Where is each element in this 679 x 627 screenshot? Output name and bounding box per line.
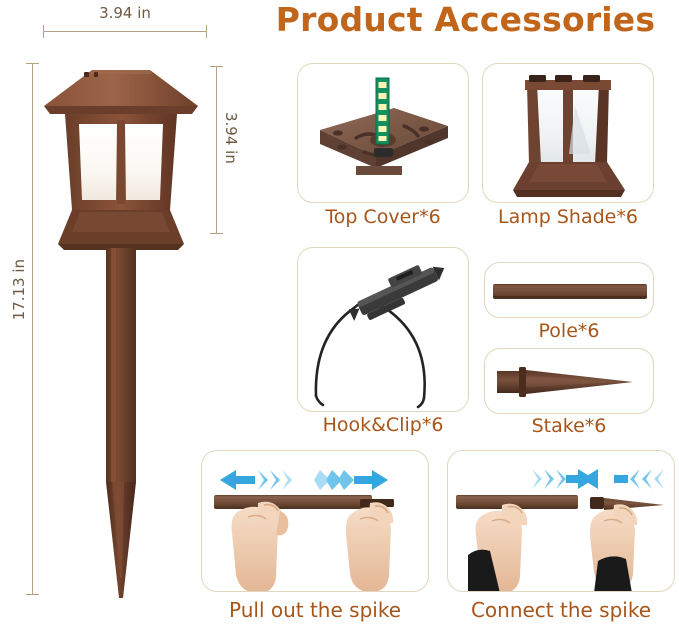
lamp-shade-image [483, 64, 653, 202]
step-label-connect-the-spike: Connect the spike [447, 598, 675, 622]
arrow-left-inward [582, 469, 628, 489]
dimension-width-cap-right [206, 25, 207, 38]
dimension-width: 3.94 in [40, 4, 210, 40]
accessory-label-lamp-shade: Lamp Shade*6 [482, 206, 654, 228]
dimension-width-cap-left [43, 25, 44, 38]
accessory-card-pole[interactable] [484, 262, 654, 318]
step-card-pull-out-the-spike[interactable] [201, 450, 429, 592]
infographic-canvas: Product Accessories 3.94 in 3.94 in 17.1… [0, 0, 679, 627]
dimension-head-height-label: 3.94 in [222, 112, 240, 164]
connect-the-spike-image [448, 451, 674, 591]
pull-out-the-spike-image [202, 451, 428, 591]
page-title: Product Accessories [252, 0, 679, 42]
accessory-card-stake[interactable] [484, 348, 654, 414]
accessory-label-pole: Pole*6 [484, 320, 654, 342]
top-cover-image [298, 64, 468, 202]
accessory-label-top-cover: Top Cover*6 [297, 206, 469, 228]
arrow-left [220, 470, 255, 490]
pole-image [485, 263, 653, 317]
dimension-total-height-label: 17.13 in [10, 259, 28, 320]
step-label-pull-out-the-spike: Pull out the spike [201, 598, 429, 622]
step-card-connect-the-spike[interactable] [447, 450, 675, 592]
stake-image [485, 349, 653, 413]
accessory-label-hook-clip: Hook&Clip*6 [297, 414, 469, 436]
dimension-head-height-cap-bottom [210, 233, 223, 234]
accessory-card-hook-clip[interactable] [297, 247, 469, 412]
accessory-card-top-cover[interactable] [297, 63, 469, 203]
accessory-label-stake: Stake*6 [484, 415, 654, 437]
dimension-head-height-cap-top [210, 66, 223, 67]
arrow-right [354, 470, 388, 490]
dimension-width-label: 3.94 in [40, 4, 210, 22]
accessory-card-lamp-shade[interactable] [482, 63, 654, 203]
dimension-width-line [43, 31, 207, 32]
dimension-head-height-line [216, 66, 217, 234]
dimension-head-height: 3.94 in [212, 66, 252, 234]
hook-clip-image [298, 248, 468, 411]
product-lamp-illustration [32, 58, 210, 598]
